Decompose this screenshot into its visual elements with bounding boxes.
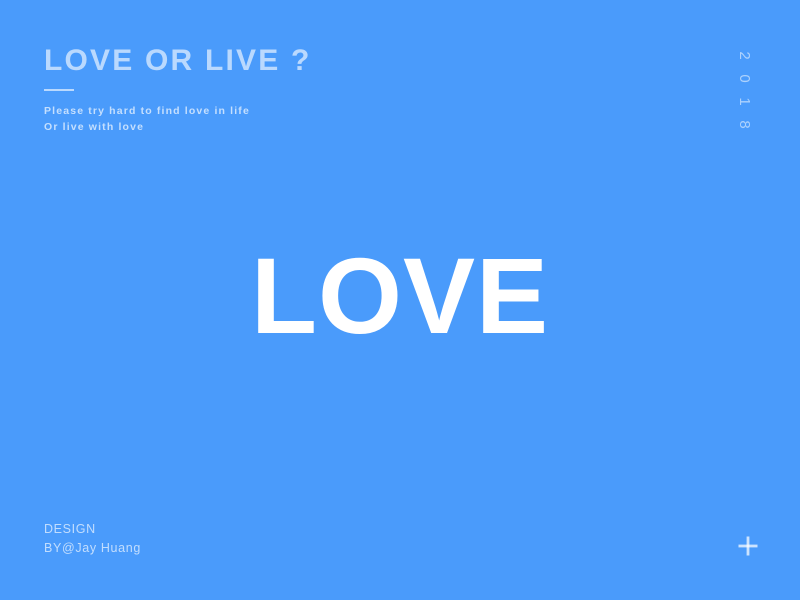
year-digit-1: 2	[733, 48, 756, 63]
subtitle-line-2: Or live with love	[44, 119, 464, 135]
hero-word: LOVE	[0, 236, 800, 356]
subtitle-line-1: Please try hard to find love in life	[44, 103, 464, 119]
plus-icon[interactable]	[734, 532, 762, 560]
year-digit-3: 1	[733, 94, 756, 109]
year-label: 2 0 1 8	[737, 44, 752, 136]
credit-block: DESIGN BY@Jay Huang	[44, 520, 141, 558]
year-digit-4: 8	[733, 117, 756, 132]
year-digit-2: 0	[733, 71, 756, 86]
page-title: LOVE OR LIVE ?	[44, 44, 464, 78]
header-block: LOVE OR LIVE ? Please try hard to find l…	[44, 44, 464, 135]
credit-role: DESIGN	[44, 520, 141, 539]
subtitle-block: Please try hard to find love in life Or …	[44, 103, 464, 135]
poster-canvas: LOVE OR LIVE ? Please try hard to find l…	[0, 0, 800, 600]
title-divider	[44, 89, 74, 91]
credit-author: BY@Jay Huang	[44, 539, 141, 558]
